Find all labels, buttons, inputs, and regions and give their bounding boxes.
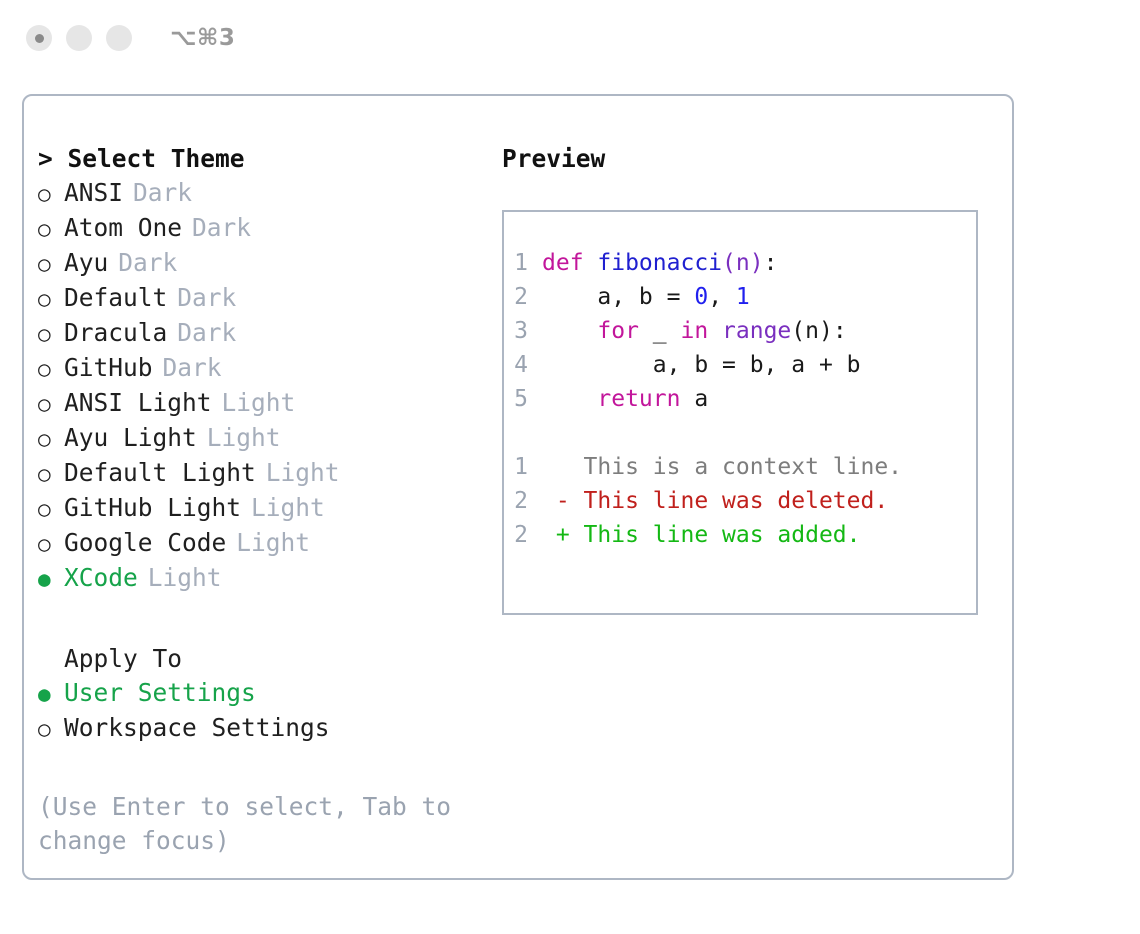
code-token-kw: for (597, 318, 639, 344)
code-line-text: for _ in range(n): (542, 314, 847, 348)
preview-box: 1def fibonacci(n):2 a, b = 0, 13 for _ i… (502, 210, 978, 615)
radio-unselected-icon: ○ (38, 387, 64, 421)
diff-line: 2 - This line was deleted. (504, 484, 976, 518)
theme-option[interactable]: ○DefaultDark (38, 281, 498, 316)
theme-variant-badge: Light (222, 386, 296, 420)
theme-option-label: Ayu Light (64, 421, 197, 455)
radio-unselected-icon: ○ (38, 212, 64, 246)
line-number: 3 (504, 314, 542, 348)
theme-option[interactable]: ○AyuDark (38, 246, 498, 281)
radio-selected-icon: ● (38, 677, 64, 711)
radio-unselected-icon: ○ (38, 177, 64, 211)
theme-variant-badge: Dark (163, 351, 222, 385)
code-token-bi: range (722, 318, 791, 344)
theme-option[interactable]: ○ANSIDark (38, 176, 498, 211)
code-token-plain: : (764, 250, 778, 276)
code-line: 4 a, b = b, a + b (504, 348, 976, 382)
code-token-plain (708, 318, 722, 344)
diff-line-text: - This line was deleted. (542, 484, 888, 518)
code-token-kw: return (597, 386, 680, 412)
theme-option-label: GitHub Light (64, 491, 241, 525)
theme-option-label: Dracula (64, 316, 167, 350)
code-token-plain (542, 386, 597, 412)
code-line-text: return a (542, 382, 708, 416)
code-token-plain: a (680, 386, 708, 412)
theme-variant-badge: Dark (133, 176, 192, 210)
code-token-plain: a, b = (542, 284, 694, 310)
radio-selected-icon: ● (38, 562, 64, 596)
line-number: 1 (504, 246, 542, 280)
traffic-light-maximize-icon[interactable] (106, 25, 132, 51)
theme-option-label: Google Code (64, 526, 226, 560)
line-number: 4 (504, 348, 542, 382)
theme-option-label: Default Light (64, 456, 256, 490)
code-token-plain: (n): (791, 318, 846, 344)
theme-variant-badge: Light (236, 526, 310, 560)
apply-to-option[interactable]: ○Workspace Settings (38, 711, 498, 746)
select-theme-heading: > Select Theme (38, 142, 498, 176)
radio-unselected-icon: ○ (38, 352, 64, 386)
theme-option-label: GitHub (64, 351, 153, 385)
preview-heading: Preview (502, 142, 994, 176)
theme-variant-badge: Light (266, 456, 340, 490)
code-token-kw: in (680, 318, 708, 344)
theme-option[interactable]: ○Atom OneDark (38, 211, 498, 246)
code-token-plain: a, b = b, a + b (542, 352, 861, 378)
theme-list: ○ANSIDark○Atom OneDark○AyuDark○DefaultDa… (38, 176, 498, 596)
code-token-kw: def (542, 250, 597, 276)
diff-sample: 1 This is a context line.2 - This line w… (504, 450, 976, 552)
code-line: 1def fibonacci(n): (504, 246, 976, 280)
theme-option-label: Atom One (64, 211, 182, 245)
line-number: 2 (504, 280, 542, 314)
radio-unselected-icon: ○ (38, 422, 64, 456)
theme-option[interactable]: ●XCodeLight (38, 561, 498, 596)
theme-variant-badge: Dark (177, 316, 236, 350)
apply-to-option-label: User Settings (64, 676, 256, 710)
theme-option[interactable]: ○Ayu LightLight (38, 421, 498, 456)
code-token-plain: , (708, 284, 736, 310)
radio-unselected-icon: ○ (38, 317, 64, 351)
radio-unselected-icon: ○ (38, 282, 64, 316)
code-token-plain (542, 318, 597, 344)
theme-option-label: ANSI (64, 176, 123, 210)
traffic-light-minimize-icon[interactable] (66, 25, 92, 51)
diff-line-text: This is a context line. (542, 450, 902, 484)
keyboard-hint-text: (Use Enter to select, Tab to change focu… (38, 790, 458, 858)
code-line-text: a, b = 0, 1 (542, 280, 750, 314)
code-token-num: 0 (694, 284, 708, 310)
theme-selection-column: > Select Theme ○ANSIDark○Atom OneDark○Ay… (38, 142, 498, 858)
app-window: ⌥⌘3 > Select Theme ○ANSIDark○Atom OneDar… (0, 0, 1140, 934)
line-number: 2 (504, 518, 542, 552)
theme-option[interactable]: ○Google CodeLight (38, 526, 498, 561)
traffic-light-close-icon[interactable] (26, 25, 52, 51)
line-number: 1 (504, 450, 542, 484)
code-line-text: a, b = b, a + b (542, 348, 861, 382)
main-panel: > Select Theme ○ANSIDark○Atom OneDark○Ay… (22, 94, 1014, 880)
apply-to-heading: Apply To (38, 642, 498, 676)
theme-option[interactable]: ○ANSI LightLight (38, 386, 498, 421)
theme-option[interactable]: ○DraculaDark (38, 316, 498, 351)
apply-to-list: ●User Settings○Workspace Settings (38, 676, 498, 746)
title-bar: ⌥⌘3 (0, 0, 1140, 76)
code-line-text: def fibonacci(n): (542, 246, 777, 280)
theme-option-label: ANSI Light (64, 386, 212, 420)
theme-variant-badge: Dark (118, 246, 177, 280)
active-indicator-dot (35, 34, 44, 43)
window-controls (26, 25, 132, 51)
radio-unselected-icon: ○ (38, 712, 64, 746)
code-token-bi: ) (750, 250, 764, 276)
theme-option-label: Ayu (64, 246, 108, 280)
theme-variant-badge: Light (251, 491, 325, 525)
radio-unselected-icon: ○ (38, 247, 64, 281)
theme-variant-badge: Light (148, 561, 222, 595)
line-number: 5 (504, 382, 542, 416)
preview-spacer (504, 416, 976, 450)
theme-option[interactable]: ○Default LightLight (38, 456, 498, 491)
radio-unselected-icon: ○ (38, 527, 64, 561)
radio-unselected-icon: ○ (38, 492, 64, 526)
apply-to-option[interactable]: ●User Settings (38, 676, 498, 711)
theme-option[interactable]: ○GitHub LightLight (38, 491, 498, 526)
theme-variant-badge: Light (207, 421, 281, 455)
keyboard-shortcut-label: ⌥⌘3 (170, 25, 235, 51)
diff-line: 1 This is a context line. (504, 450, 976, 484)
theme-option[interactable]: ○GitHubDark (38, 351, 498, 386)
theme-variant-badge: Dark (192, 211, 251, 245)
code-line: 5 return a (504, 382, 976, 416)
diff-line: 2 + This line was added. (504, 518, 976, 552)
preview-column: Preview 1def fibonacci(n):2 a, b = 0, 13… (502, 142, 994, 615)
apply-to-option-label: Workspace Settings (64, 711, 330, 745)
code-token-bi: ( (722, 250, 736, 276)
code-token-num: 1 (736, 284, 750, 310)
code-token-bi: n (736, 250, 750, 276)
code-token-plain: _ (639, 318, 681, 344)
code-sample: 1def fibonacci(n):2 a, b = 0, 13 for _ i… (504, 246, 976, 416)
radio-unselected-icon: ○ (38, 457, 64, 491)
code-line: 3 for _ in range(n): (504, 314, 976, 348)
theme-variant-badge: Dark (177, 281, 236, 315)
diff-line-text: + This line was added. (542, 518, 861, 552)
code-token-fn: fibonacci (597, 250, 722, 276)
theme-option-label: XCode (64, 561, 138, 595)
code-line: 2 a, b = 0, 1 (504, 280, 976, 314)
theme-option-label: Default (64, 281, 167, 315)
line-number: 2 (504, 484, 542, 518)
